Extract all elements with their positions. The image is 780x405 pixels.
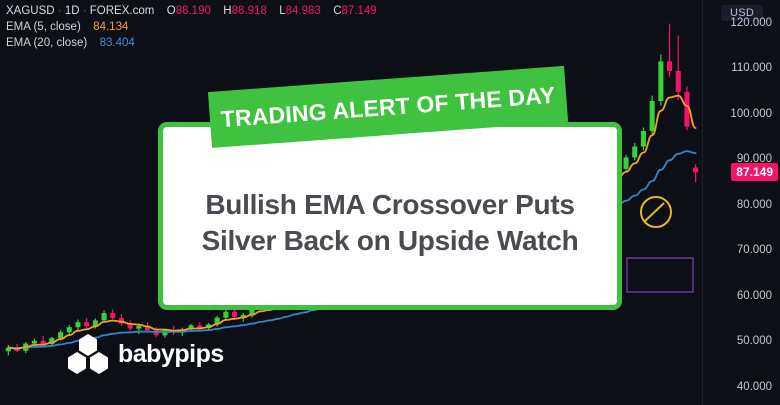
candle-body	[84, 322, 89, 326]
price-tick: 40.000	[737, 381, 772, 393]
price-axis[interactable]: USD 120.000110.000100.00090.00080.00070.…	[702, 0, 780, 405]
candle-body	[650, 101, 655, 131]
candle-body	[67, 327, 72, 332]
candle-body	[32, 341, 37, 344]
price-tick: 100.000	[730, 108, 772, 120]
legend-title-row: XAGUSD · 1D · FOREX.com O88.190 H88.918 …	[6, 3, 377, 19]
exchange-label[interactable]: FOREX.com	[90, 5, 155, 17]
candle-body	[223, 312, 228, 318]
promo-ribbon-text: TRADING ALERT OF THE DAY	[220, 81, 556, 132]
ohlc-open: O88.190	[167, 5, 211, 17]
babypips-wordmark: babypips	[118, 342, 224, 367]
ema20-label: EMA (20, close)	[6, 37, 87, 49]
price-tick: 50.000	[737, 335, 772, 347]
price-tick: 110.000	[731, 62, 772, 74]
legend-ema5-row[interactable]: EMA (5, close) 84.134	[6, 19, 377, 35]
ohlc-close: C87.149	[333, 5, 377, 17]
legend-ema20-row[interactable]: EMA (20, close) 83.404	[6, 35, 377, 51]
babypips-logo-icon	[66, 333, 110, 375]
candle-body	[102, 313, 107, 320]
candle-body	[667, 61, 672, 71]
candle-body	[632, 147, 637, 158]
candle-body	[676, 71, 681, 92]
legend-separator-1: ·	[58, 5, 62, 17]
candle-body	[693, 168, 698, 173]
ohlc-high: H88.918	[223, 5, 267, 17]
candle-body	[110, 313, 115, 318]
chart-legend: XAGUSD · 1D · FOREX.com O88.190 H88.918 …	[6, 3, 377, 51]
legend-separator-2: ·	[83, 5, 87, 17]
ema5-label: EMA (5, close)	[6, 21, 81, 33]
price-tick: 80.000	[737, 199, 772, 211]
candle-body	[658, 61, 663, 101]
ema-crossover-highlight-tick	[644, 203, 664, 222]
price-tick: 60.000	[737, 290, 772, 302]
candle-body	[232, 312, 237, 317]
babypips-watermark: babypips	[66, 333, 224, 375]
promo-headline: Bullish EMA Crossover Puts Silver Back o…	[163, 187, 617, 258]
candle-body	[136, 326, 141, 329]
promo-card: Bullish EMA Crossover Puts Silver Back o…	[158, 122, 622, 310]
timeframe-label[interactable]: 1D	[65, 5, 80, 17]
last-price-tag: 87.149	[731, 163, 778, 181]
consolidation-zone-box	[627, 258, 693, 292]
ema20-value: 83.404	[100, 37, 135, 49]
price-tick: 120.000	[730, 17, 772, 29]
symbol-label[interactable]: XAGUSD	[6, 5, 55, 17]
candle-body	[75, 322, 80, 327]
price-tick: 70.000	[737, 244, 772, 256]
candle-body	[58, 332, 63, 338]
candle-body	[624, 157, 629, 168]
ema5-value: 84.134	[93, 21, 128, 33]
candle-body	[641, 131, 646, 146]
ohlc-low: L84.983	[279, 5, 321, 17]
ema-crossover-highlight-circle	[641, 197, 671, 227]
chart-screenshot: XAGUSD · 1D · FOREX.com O88.190 H88.918 …	[0, 0, 780, 405]
